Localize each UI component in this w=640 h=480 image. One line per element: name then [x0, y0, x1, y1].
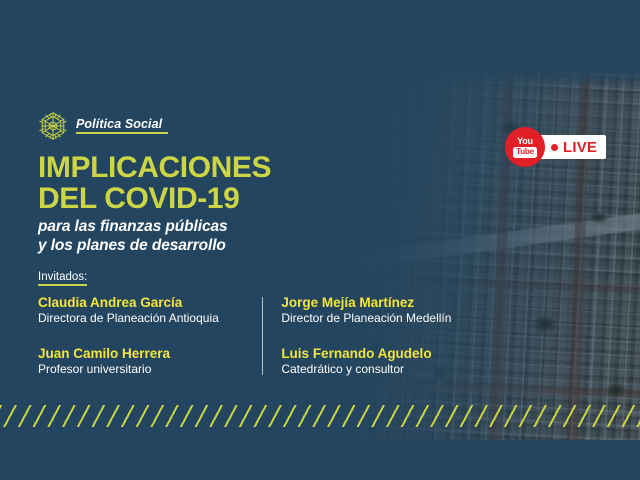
page-title: IMPLICACIONES DEL COVID-19 — [38, 152, 498, 214]
title-line-2: DEL COVID-19 — [38, 183, 498, 214]
brand-name: Política Social — [76, 118, 162, 131]
guests-column-right: Jorge Mejía Martínez Director de Planeac… — [263, 295, 483, 377]
politica-social-geometric-mark-icon — [38, 111, 68, 141]
subtitle-line-2: y los planes de desarrollo — [38, 237, 498, 256]
subtitle-line-1: para las finanzas públicas — [38, 218, 498, 237]
guest-entry: Jorge Mejía Martínez Director de Planeac… — [281, 295, 483, 326]
youtube-tube-text: Tube — [513, 147, 537, 158]
guests-label-wrap: Invitados: — [38, 272, 87, 286]
title-line-1: IMPLICACIONES — [38, 151, 271, 184]
guests-column-left: Claudia Andrea García Directora de Plane… — [38, 295, 262, 377]
brand-text-wrap: Política Social — [76, 118, 162, 134]
page-subtitle: para las finanzas públicas y los planes … — [38, 218, 498, 256]
guest-entry: Juan Camilo Herrera Profesor universitar… — [38, 346, 262, 377]
guest-name: Luis Fernando Agudelo — [281, 346, 483, 362]
diagonal-hatch-band — [0, 405, 640, 427]
guests-label-underline — [38, 284, 87, 286]
youtube-logo-icon[interactable]: You Tube — [505, 127, 545, 167]
guest-entry: Claudia Andrea García Directora de Plane… — [38, 295, 262, 326]
guest-entry: Luis Fernando Agudelo Catedrático y cons… — [281, 346, 483, 377]
brand-underline — [76, 132, 168, 134]
brand-lockup: Política Social — [38, 110, 498, 142]
bottom-solid-band — [0, 440, 640, 480]
guest-role: Profesor universitario — [38, 362, 262, 376]
guests-label: Invitados: — [38, 272, 87, 284]
guest-name: Jorge Mejía Martínez — [281, 295, 483, 311]
guest-name: Juan Camilo Herrera — [38, 346, 262, 362]
event-poster: Política Social IMPLICACIONES DEL COVID-… — [0, 0, 640, 480]
live-indicator-dot-icon — [551, 144, 558, 151]
guest-role: Catedrático y consultor — [281, 362, 483, 376]
live-label: LIVE — [563, 140, 597, 155]
youtube-you-text: You — [517, 137, 533, 146]
guests-grid: Claudia Andrea García Directora de Plane… — [38, 295, 483, 377]
live-pill[interactable]: LIVE — [535, 135, 606, 159]
guest-role: Directora de Planeación Antioquia — [38, 311, 262, 325]
poster-content: Política Social IMPLICACIONES DEL COVID-… — [38, 110, 498, 377]
guest-name: Claudia Andrea García — [38, 295, 262, 311]
youtube-live-badge[interactable]: You Tube LIVE — [505, 127, 606, 167]
guest-role: Director de Planeación Medellín — [281, 311, 483, 325]
photo-top-fade-overlay — [300, 70, 640, 88]
